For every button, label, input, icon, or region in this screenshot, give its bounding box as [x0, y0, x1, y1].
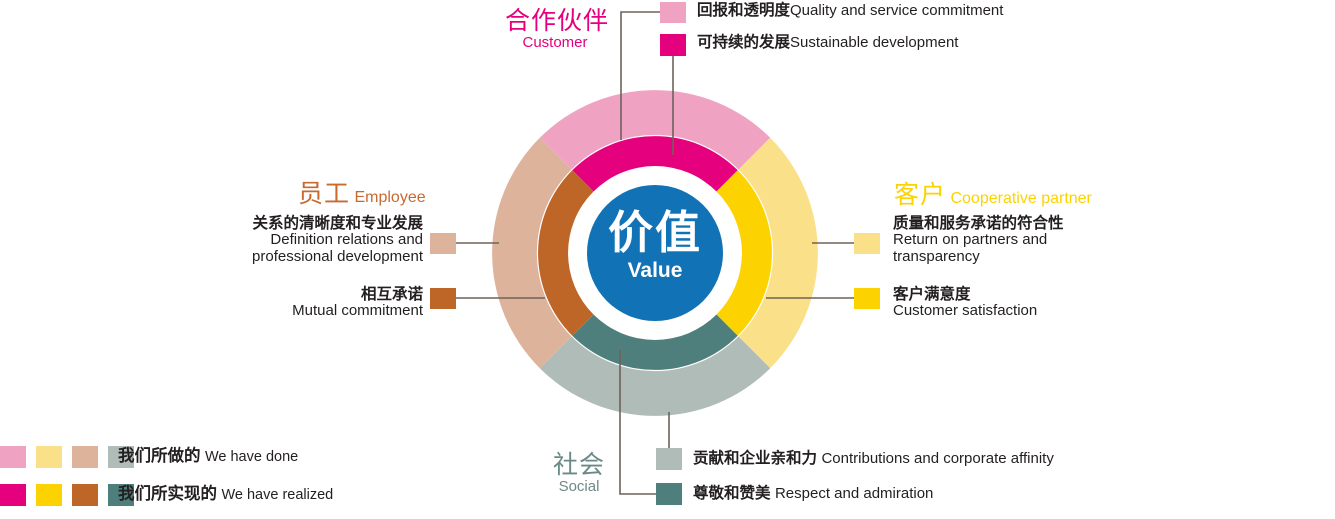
- group-title-employee: 员工 Employee: [298, 182, 426, 207]
- group-title-social-en: Social: [533, 479, 625, 495]
- swatch-social-item-2[interactable]: [656, 483, 682, 505]
- item-social-2: 尊敬和赞美 Respect and admiration: [693, 485, 933, 503]
- item-partner-1-cn: 质量和服务承诺的符合性: [893, 215, 1073, 232]
- group-title-partner-en: Cooperative partner: [950, 190, 1091, 207]
- item-social-1: 贡献和企业亲和力 Contributions and corporate aff…: [693, 450, 1054, 468]
- item-customer-2-en: Sustainable development: [790, 34, 958, 51]
- item-partner-2: 客户满意度 Customer satisfaction: [893, 286, 1037, 320]
- item-employee-1-en2: professional development: [123, 249, 423, 266]
- swatch-partner-item-2[interactable]: [854, 288, 880, 309]
- item-social-1-en: Contributions and corporate affinity: [821, 450, 1053, 467]
- item-partner-2-cn: 客户满意度: [893, 286, 1037, 303]
- legend-label-done-en: We have done: [205, 449, 298, 465]
- center-label: 价值 Value: [585, 208, 725, 284]
- swatch-customer-item-2[interactable]: [660, 34, 686, 56]
- item-social-2-cn: 尊敬和赞美: [693, 485, 771, 502]
- item-customer-1: 回报和透明度Quality and service commitment: [697, 2, 1003, 20]
- group-title-customer-cn: 合作伙伴: [505, 8, 605, 35]
- item-employee-1: 关系的清晰度和专业发展 Definition relations and pro…: [123, 215, 423, 266]
- group-title-social-cn: 社会: [533, 452, 625, 479]
- item-employee-2-en: Mutual commitment: [123, 303, 423, 320]
- legend-swatch-partner-dark: [36, 484, 62, 506]
- legend-label-done: 我们所做的 We have done: [118, 443, 298, 470]
- legend-label-realized-en: We have realized: [221, 487, 333, 503]
- item-customer-1-cn: 回报和透明度: [697, 2, 790, 19]
- swatch-partner-item-1[interactable]: [854, 233, 880, 254]
- group-title-employee-en: Employee: [354, 189, 425, 206]
- group-title-employee-cn: 员工: [298, 180, 350, 208]
- group-title-partner-cn: 客户: [894, 181, 946, 209]
- item-partner-1-en1: Return on partners and transparency: [893, 232, 1073, 266]
- legend-swatch-employee-light: [72, 446, 98, 468]
- item-employee-2: 相互承诺 Mutual commitment: [123, 286, 423, 320]
- item-employee-2-cn: 相互承诺: [123, 286, 423, 303]
- legend-label-realized-cn: 我们所实现的: [118, 485, 217, 503]
- group-title-social: 社会 Social: [533, 452, 625, 495]
- legend-swatch-customer-dark: [0, 484, 26, 506]
- item-partner-1: 质量和服务承诺的符合性 Return on partners and trans…: [893, 215, 1073, 266]
- item-employee-1-cn: 关系的清晰度和专业发展: [123, 215, 423, 232]
- group-title-partner: 客户 Cooperative partner: [894, 183, 1092, 208]
- legend-label-realized: 我们所实现的 We have realized: [118, 481, 333, 508]
- item-customer-1-en: Quality and service commitment: [790, 2, 1003, 19]
- center-label-cn: 价值: [585, 208, 725, 258]
- group-title-customer: 合作伙伴 Customer: [505, 8, 605, 51]
- legend-swatch-customer-light: [0, 446, 26, 468]
- legend-swatch-employee-dark: [72, 484, 98, 506]
- legend-label-done-cn: 我们所做的: [118, 447, 201, 465]
- item-customer-2: 可持续的发展Sustainable development: [697, 34, 958, 52]
- item-customer-2-cn: 可持续的发展: [697, 34, 790, 51]
- swatch-employee-item-1[interactable]: [430, 233, 456, 254]
- swatch-employee-item-2[interactable]: [430, 288, 456, 309]
- legend-swatch-partner-light: [36, 446, 62, 468]
- item-social-1-cn: 贡献和企业亲和力: [693, 450, 817, 467]
- item-employee-1-en1: Definition relations and: [123, 232, 423, 249]
- item-social-2-en: Respect and admiration: [775, 485, 933, 502]
- value-wheel-diagram: 合作伙伴 Customer 回报和透明度Quality and service …: [0, 0, 1335, 505]
- group-title-customer-en: Customer: [505, 35, 605, 51]
- item-partner-2-en: Customer satisfaction: [893, 303, 1037, 320]
- swatch-customer-item-1[interactable]: [660, 2, 686, 23]
- swatch-social-item-1[interactable]: [656, 448, 682, 470]
- center-label-en: Value: [585, 258, 725, 284]
